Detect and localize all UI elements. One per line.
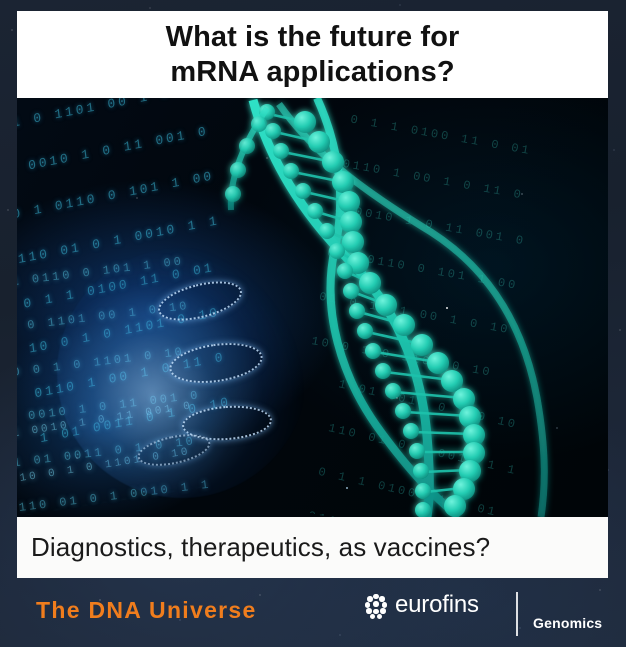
logo-divider <box>516 592 518 636</box>
poster-card: What is the future for mRNA applications… <box>0 0 626 647</box>
eurofins-dot-cluster-icon <box>364 594 388 618</box>
caption-panel: Diagnostics, therapeutics, as vaccines? <box>17 517 608 578</box>
page-title: What is the future for mRNA applications… <box>166 20 460 88</box>
eurofins-logo-lockup: eurofins <box>364 592 479 618</box>
title-panel: What is the future for mRNA applications… <box>17 11 608 98</box>
hero-image: 01 0 1101 00 1 0 10 1 0010 1 0 11 001 0 … <box>17 98 608 517</box>
eurofins-wordmark: eurofins <box>395 592 479 618</box>
hero-background-gradient <box>17 98 608 517</box>
eurofins-genomics-label: Genomics <box>533 615 602 631</box>
caption-text: Diagnostics, therapeutics, as vaccines? <box>31 532 490 563</box>
brand-the-dna-universe: The DNA Universe <box>36 597 257 624</box>
